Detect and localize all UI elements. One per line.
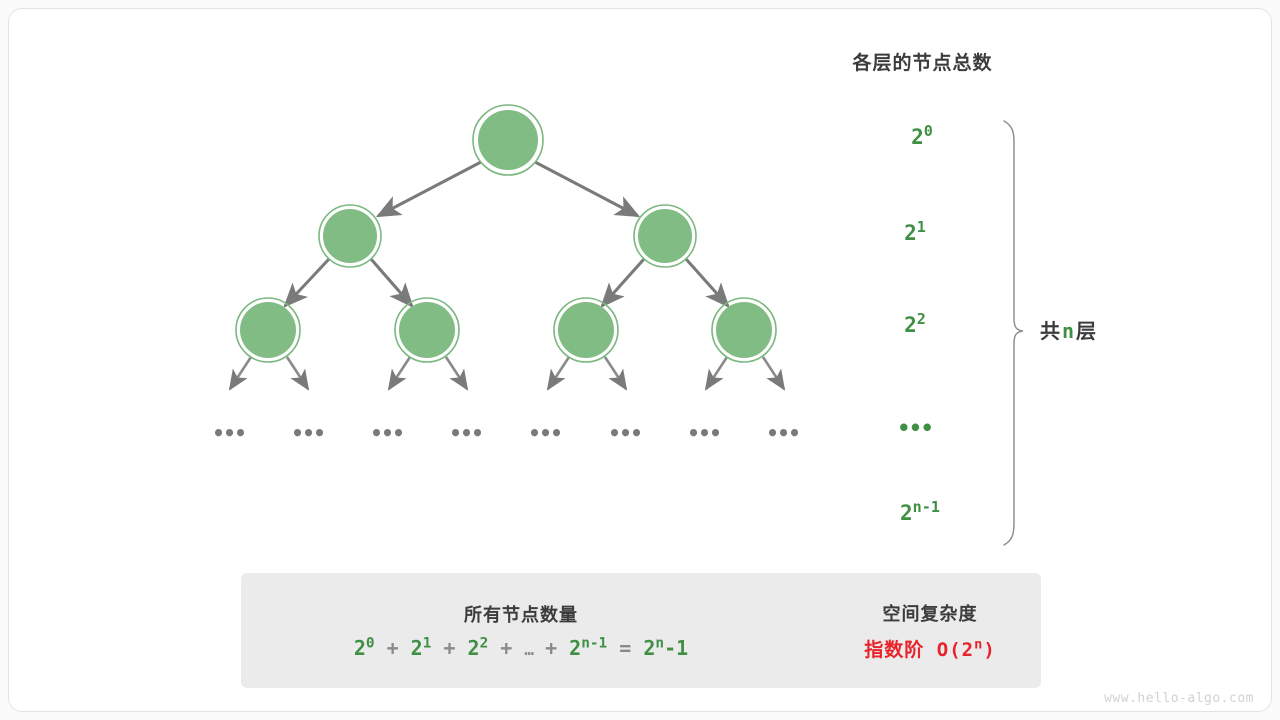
complexity-order-label: 指数阶 <box>864 640 924 661</box>
leaf-ellipsis-3: ••• <box>367 421 407 445</box>
summary-formula: 20 + 21 + 22 + … + 2n-1 = 2n-1 <box>354 636 688 660</box>
leaf-ellipsis-7: ••• <box>684 421 724 445</box>
tree-nodes <box>236 105 776 362</box>
complexity-big-o-exp: n <box>974 636 983 652</box>
tree-node-level2-left <box>319 205 381 267</box>
formula-term-1: 21 <box>411 636 432 660</box>
tree-node-root <box>473 105 543 175</box>
tree-node-level3-4 <box>712 298 776 362</box>
complexity-big-o-open: O(2 <box>937 639 974 661</box>
complexity-big-o: O(2n) <box>937 639 996 661</box>
summary-right-title: 空间复杂度 <box>883 600 978 626</box>
diagram-canvas: 各层的节点总数 20 21 22 ••• 2n-1 共n层 ••• ••• ••… <box>0 0 1280 720</box>
level-count-exp-2: 2 <box>917 310 926 328</box>
tree-edges-level-1-2 <box>378 162 638 216</box>
tree-node-level3-3 <box>554 298 618 362</box>
formula-equals: = <box>619 636 631 660</box>
formula-term-2-exp: 2 <box>480 635 489 651</box>
total-layers-n: n <box>1062 319 1076 343</box>
formula-plus-3: + <box>500 636 512 660</box>
total-layers-suffix: 层 <box>1076 321 1098 343</box>
leaf-ellipsis-1: ••• <box>209 421 249 445</box>
tree-node-level3-1 <box>236 298 300 362</box>
formula-plus-2: + <box>443 636 455 660</box>
formula-term-last: 2n-1 <box>569 636 607 660</box>
tree-leaf-stub-arrows <box>230 357 784 389</box>
formula-term-2: 22 <box>468 636 489 660</box>
formula-result-exp: n <box>655 635 664 651</box>
watermark: www.hello-algo.com <box>1104 691 1254 706</box>
formula-term-1-exp: 1 <box>423 635 432 651</box>
summary-panel-left: 所有节点数量 20 + 21 + 22 + … + 2n-1 = 2n-1 <box>241 573 801 688</box>
complexity-big-o-close: ) <box>983 639 995 661</box>
formula-term-last-exp: n-1 <box>581 635 607 651</box>
summary-left-title: 所有节点数量 <box>464 601 578 627</box>
total-layers-label: 共n层 <box>1040 315 1098 344</box>
leaf-ellipsis-5: ••• <box>525 421 565 445</box>
tree-node-level2-right <box>634 205 696 267</box>
formula-plus-4: + <box>545 636 557 660</box>
formula-term-0-exp: 0 <box>366 635 375 651</box>
summary-panel-right: 空间复杂度 指数阶 O(2n) <box>830 573 1030 688</box>
space-complexity-value: 指数阶 O(2n) <box>864 635 996 662</box>
formula-ellipsis: … <box>524 640 533 659</box>
level-count-exp-1: 1 <box>917 218 926 236</box>
levels-brace <box>1004 121 1023 545</box>
tree-node-level3-2 <box>395 298 459 362</box>
level-count-exp-0: 0 <box>924 122 933 140</box>
leaf-ellipsis-6: ••• <box>605 421 645 445</box>
leaf-ellipsis-8: ••• <box>763 421 803 445</box>
level-count-label-1: 21 <box>845 221 985 245</box>
level-count-ellipsis: ••• <box>845 416 985 440</box>
formula-result: 2n-1 <box>643 636 688 660</box>
formula-term-last-base: 2 <box>569 636 581 660</box>
level-count-label-2: 22 <box>845 313 985 337</box>
leaf-ellipsis-4: ••• <box>446 421 486 445</box>
formula-term-0: 20 <box>354 636 375 660</box>
legend-column-title: 各层的节点总数 <box>780 48 1065 75</box>
formula-result-tail: -1 <box>664 636 688 660</box>
level-count-label-0: 20 <box>852 125 992 149</box>
level-count-exp-last: n-1 <box>913 498 940 516</box>
formula-result-base: 2 <box>643 636 655 660</box>
formula-plus-1: + <box>387 636 399 660</box>
level-count-label-last: 2n-1 <box>850 501 990 525</box>
total-layers-prefix: 共 <box>1040 321 1062 343</box>
leaf-ellipsis-2: ••• <box>288 421 328 445</box>
